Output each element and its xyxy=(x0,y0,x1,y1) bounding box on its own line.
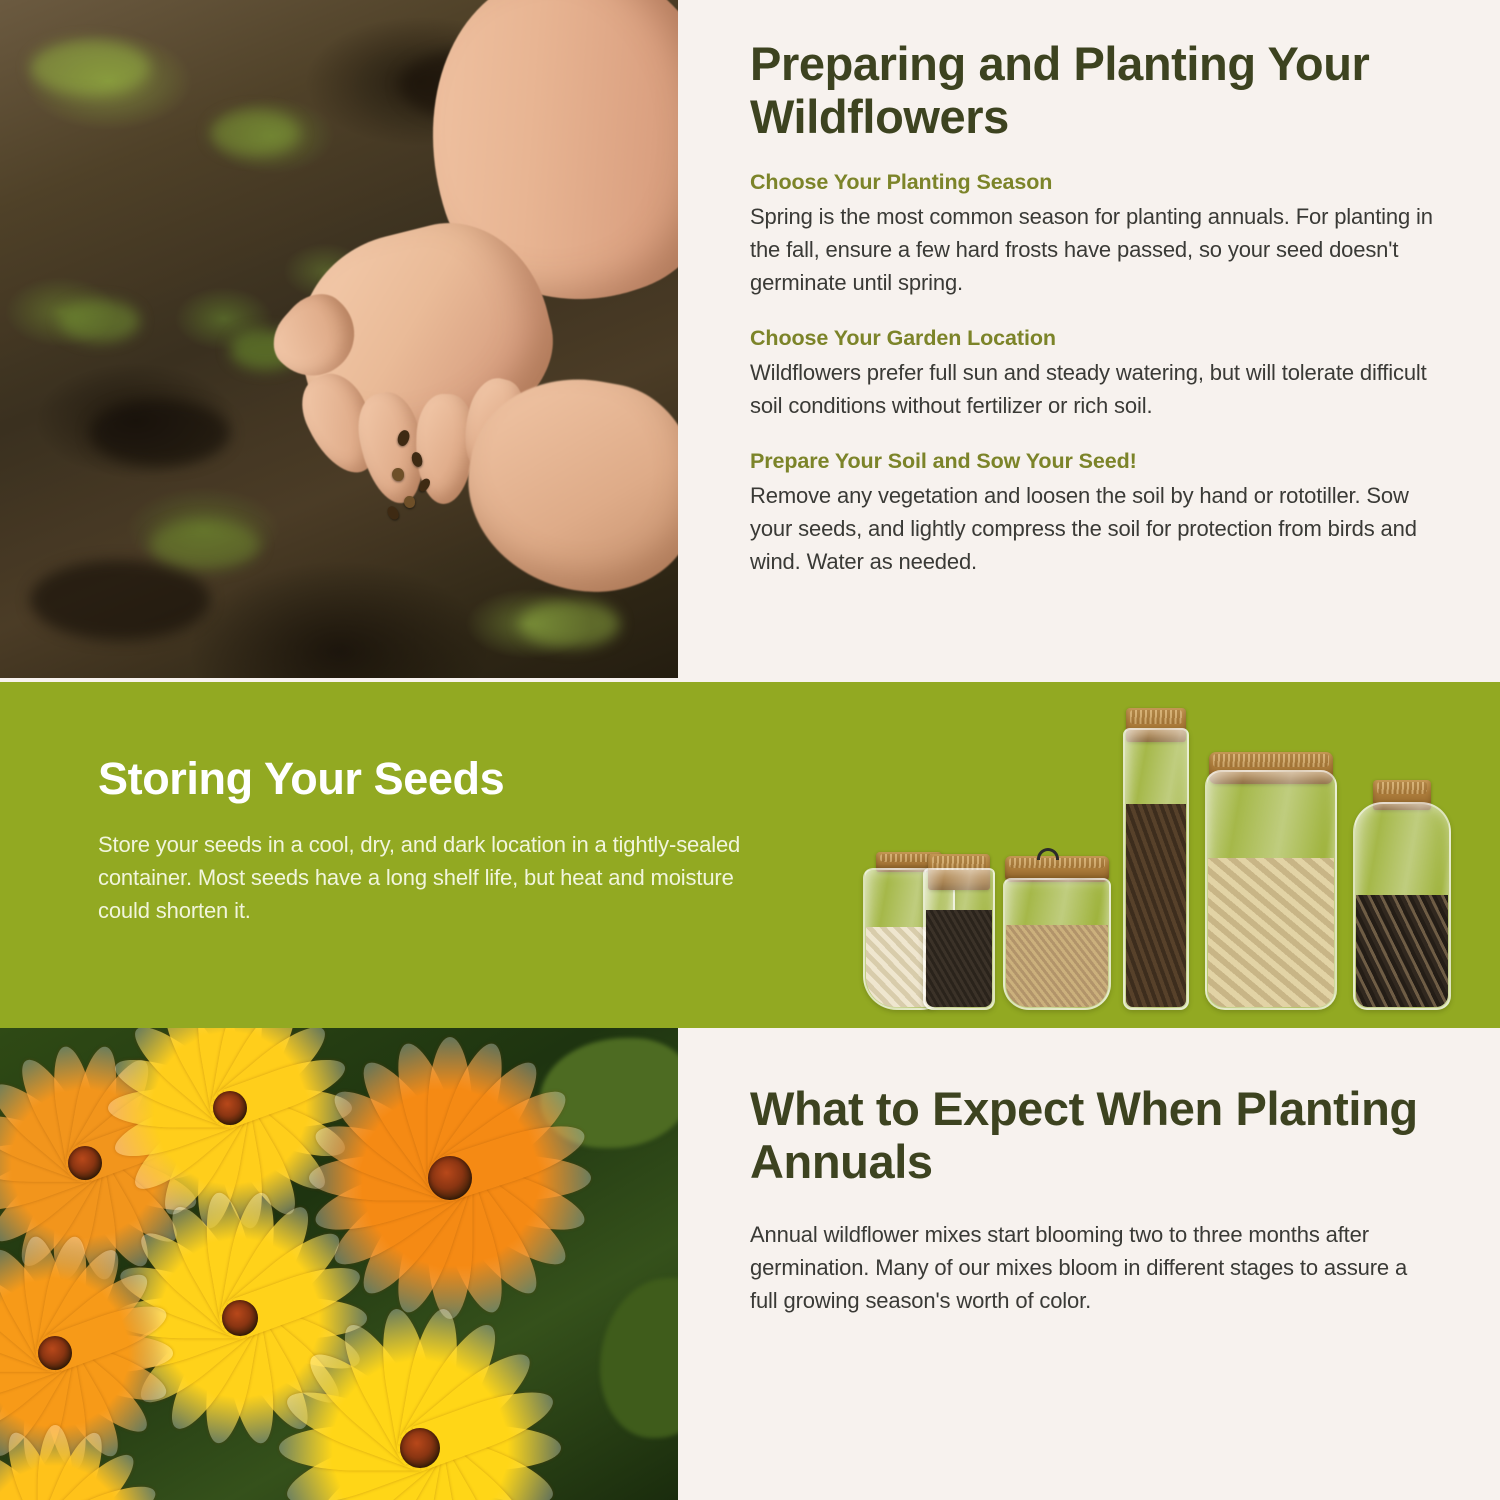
text-block-planting-season: Choose Your Planting Season Spring is th… xyxy=(750,169,1450,299)
flower-center xyxy=(222,1300,258,1336)
subheading-planting-season: Choose Your Planting Season xyxy=(750,169,1450,197)
seed-jars-photo xyxy=(855,692,1475,1028)
flower-center xyxy=(213,1091,247,1125)
jar-tall-brown-seed xyxy=(1123,728,1189,1010)
section-preparing-and-planting: Preparing and Planting Your Wildflowers … xyxy=(0,0,1500,682)
seed-fill xyxy=(1356,895,1448,1007)
expect-body: Annual wildflower mixes start blooming t… xyxy=(750,1218,1440,1317)
jar-sunflower-seeds xyxy=(1353,802,1451,1010)
seed-fill xyxy=(926,910,992,1007)
flower-center xyxy=(428,1156,472,1200)
orange-and-yellow-daisy-wildflowers-photo xyxy=(0,1028,678,1500)
jar-sand-seed xyxy=(1003,878,1111,1010)
infographic-page: Preparing and Planting Your Wildflowers … xyxy=(0,0,1500,1500)
lid-handle xyxy=(1037,848,1059,860)
storing-body: Store your seeds in a cool, dry, and dar… xyxy=(98,828,758,928)
green-text-column: Storing Your Seeds Store your seeds in a… xyxy=(98,754,758,928)
top-text-column: Preparing and Planting Your Wildflowers … xyxy=(750,38,1450,578)
seed-fill xyxy=(1126,804,1186,1007)
seed-particle xyxy=(404,496,415,508)
jar-black-seed xyxy=(923,868,995,1010)
seed-fill xyxy=(1208,858,1334,1007)
section-what-to-expect: What to Expect When Planting Annuals Ann… xyxy=(0,1028,1500,1500)
flower-center xyxy=(400,1428,440,1468)
subheading-prepare-soil: Prepare Your Soil and Sow Your Seed! xyxy=(750,448,1450,476)
body-garden-location: Wildflowers prefer full sun and steady w… xyxy=(750,356,1450,422)
expect-title: What to Expect When Planting Annuals xyxy=(750,1083,1440,1188)
body-prepare-soil: Remove any vegetation and loosen the soi… xyxy=(750,479,1450,578)
bottom-text-column: What to Expect When Planting Annuals Ann… xyxy=(750,1083,1440,1317)
body-planting-season: Spring is the most common season for pla… xyxy=(750,200,1450,299)
subheading-garden-location: Choose Your Garden Location xyxy=(750,325,1450,353)
jar-pumpkin-seeds xyxy=(1205,770,1337,1010)
seed-fill xyxy=(1006,925,1108,1007)
flower-center xyxy=(38,1336,72,1370)
flower-center xyxy=(68,1146,102,1180)
flower-bloom xyxy=(270,1298,570,1500)
text-block-garden-location: Choose Your Garden Location Wildflowers … xyxy=(750,325,1450,422)
flower-bloom xyxy=(0,1418,170,1500)
section-storing-your-seeds: Storing Your Seeds Store your seeds in a… xyxy=(0,682,1500,1028)
text-block-prepare-soil: Prepare Your Soil and Sow Your Seed! Rem… xyxy=(750,448,1450,578)
hand-sowing-seeds-in-soil-photo xyxy=(0,0,678,678)
page-title: Preparing and Planting Your Wildflowers xyxy=(750,38,1450,143)
seed-particle xyxy=(392,468,404,481)
storing-title: Storing Your Seeds xyxy=(98,754,758,804)
